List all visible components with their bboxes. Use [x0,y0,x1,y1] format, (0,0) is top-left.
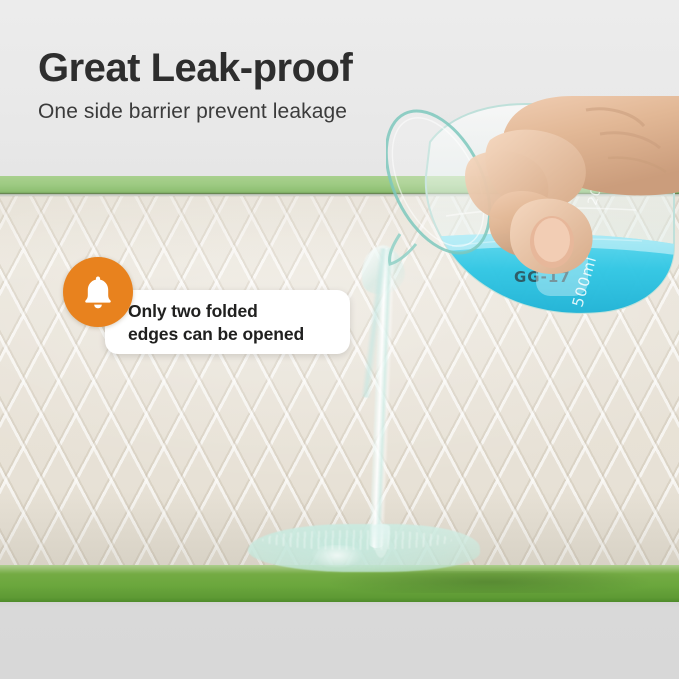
mat-bottom-shading [300,571,679,593]
callout-line-1: Only two folded [128,300,353,323]
product-feature-image: Great Leak-proof One side barrier preven… [0,0,679,679]
page-subtitle: One side barrier prevent leakage [38,97,347,127]
callout: Only two folded edges can be opened [63,257,353,354]
beaker-and-hand: 500 APPROX 200 GG-17 500ml [386,96,679,332]
bell-icon [81,274,115,310]
page-title: Great Leak-proof [38,44,352,92]
callout-line-2: edges can be opened [128,323,353,346]
hand-holding-beaker-illustration: 500 APPROX 200 GG-17 500ml [386,96,679,332]
callout-badge [63,257,133,327]
bottom-background [0,601,679,679]
stream-tip [372,524,390,558]
beaker-spout [389,234,416,264]
callout-text: Only two folded edges can be opened [128,300,353,346]
